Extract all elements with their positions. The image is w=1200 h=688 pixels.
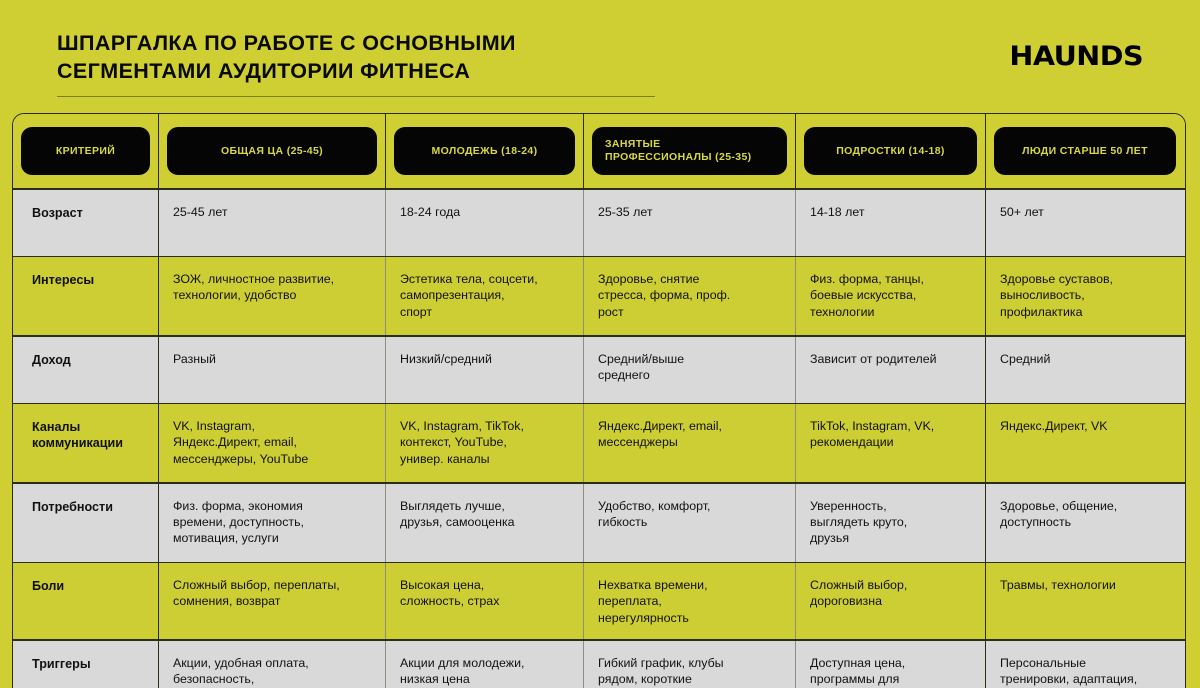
table-cell-r0-c2: 25-35 лет: [584, 190, 796, 256]
infographic-page: ШПАРГАЛКА ПО РАБОТЕ С ОСНОВНЫМИ СЕГМЕНТА…: [0, 0, 1200, 675]
table-cell-r4-c4: Здоровье, общение, доступность: [986, 484, 1184, 562]
table-cell-r1-c0: ЗОЖ, личностное развитие, технологии, уд…: [159, 257, 386, 335]
table-cell-r2-c1: Низкий/средний: [386, 337, 584, 403]
table-header-cell-1: ОБЩАЯ ЦА (25-45): [159, 114, 386, 188]
table-cell-r3-c1: VK, Instagram, TikTok, контекст, YouTube…: [386, 404, 584, 482]
table-cell-r0-c1: 18-24 года: [386, 190, 584, 256]
table-cell-r3-c2: Яндекс.Директ, email, мессенджеры: [584, 404, 796, 482]
table-cell-r1-c4: Здоровье суставов, выносливость, профила…: [986, 257, 1184, 335]
table-header-cell-5: ЛЮДИ СТАРШЕ 50 ЛЕТ: [986, 114, 1184, 188]
table-cell-r4-c0: Физ. форма, экономия времени, доступност…: [159, 484, 386, 562]
table-cell-r2-c4: Средний: [986, 337, 1184, 403]
row-label-0: Возраст: [13, 190, 159, 256]
table-cell-r1-c3: Физ. форма, танцы, боевые искусства, тех…: [796, 257, 986, 335]
table-cell-r2-c3: Зависит от родителей: [796, 337, 986, 403]
segments-table: КРИТЕРИЙОБЩАЯ ЦА (25-45)МОЛОДЕЖЬ (18-24)…: [12, 113, 1186, 688]
table-cell-r5-c4: Травмы, технологии: [986, 563, 1184, 639]
row-label-2: Доход: [13, 337, 159, 403]
row-label-6: Триггеры: [13, 641, 159, 688]
table-cell-r1-c1: Эстетика тела, соцсети, самопрезентация,…: [386, 257, 584, 335]
table-header-cell-0: КРИТЕРИЙ: [13, 114, 159, 188]
title-divider: [57, 96, 655, 97]
column-pill-1[interactable]: ОБЩАЯ ЦА (25-45): [167, 127, 377, 175]
table-cell-r4-c1: Выглядеть лучше, друзья, самооценка: [386, 484, 584, 562]
table-row: ДоходРазныйНизкий/среднийСредний/выше ср…: [13, 337, 1185, 403]
table-cell-r3-c4: Яндекс.Директ, VK: [986, 404, 1184, 482]
table-cell-r6-c0: Акции, удобная оплата, безопасность, про…: [159, 641, 386, 688]
column-pill-2[interactable]: МОЛОДЕЖЬ (18-24): [394, 127, 575, 175]
table-row: ТриггерыАкции, удобная оплата, безопасно…: [13, 641, 1185, 688]
row-label-3: Каналы коммуникации: [13, 404, 159, 482]
table-header-cell-3: ЗАНЯТЫЕ ПРОФЕССИОНАЛЫ (25-35): [584, 114, 796, 188]
table-cell-r5-c2: Нехватка времени, переплата, нерегулярно…: [584, 563, 796, 639]
table-header-cell-4: ПОДРОСТКИ (14-18): [796, 114, 986, 188]
column-pill-3[interactable]: ЗАНЯТЫЕ ПРОФЕССИОНАЛЫ (25-35): [592, 127, 787, 175]
table-cell-r6-c3: Доступная цена, программы для подростков…: [796, 641, 986, 688]
table-row: Возраст25-45 лет18-24 года25-35 лет14-18…: [13, 190, 1185, 256]
table-cell-r5-c0: Сложный выбор, переплаты, сомнения, возв…: [159, 563, 386, 639]
table-row: ПотребностиФиз. форма, экономия времени,…: [13, 484, 1185, 562]
table-cell-r0-c3: 14-18 лет: [796, 190, 986, 256]
brand-logo: HAUNDS: [1009, 41, 1143, 72]
row-label-4: Потребности: [13, 484, 159, 562]
table-cell-r6-c1: Акции для молодежи, низкая цена: [386, 641, 584, 688]
table-cell-r6-c4: Персональные тренировки, адаптация, конс…: [986, 641, 1184, 688]
table-cell-r2-c0: Разный: [159, 337, 386, 403]
table-cell-r6-c2: Гибкий график, клубы рядом, короткие зан…: [584, 641, 796, 688]
table-cell-r0-c0: 25-45 лет: [159, 190, 386, 256]
table-cell-r2-c2: Средний/выше среднего: [584, 337, 796, 403]
column-pill-0[interactable]: КРИТЕРИЙ: [21, 127, 150, 175]
row-label-1: Интересы: [13, 257, 159, 335]
table-cell-r4-c3: Уверенность, выглядеть круто, друзья: [796, 484, 986, 562]
page-title: ШПАРГАЛКА ПО РАБОТЕ С ОСНОВНЫМИ СЕГМЕНТА…: [57, 30, 737, 85]
page-header: ШПАРГАЛКА ПО РАБОТЕ С ОСНОВНЫМИ СЕГМЕНТА…: [0, 0, 1200, 112]
table-body: Возраст25-45 лет18-24 года25-35 лет14-18…: [13, 190, 1185, 688]
table-row: БолиСложный выбор, переплаты, сомнения, …: [13, 563, 1185, 639]
table-cell-r0-c4: 50+ лет: [986, 190, 1184, 256]
table-cell-r5-c3: Сложный выбор, дороговизна: [796, 563, 986, 639]
table-row: ИнтересыЗОЖ, личностное развитие, технол…: [13, 257, 1185, 335]
table-row: Каналы коммуникацииVK, Instagram, Яндекс…: [13, 404, 1185, 482]
table-header-cell-2: МОЛОДЕЖЬ (18-24): [386, 114, 584, 188]
table-header-row: КРИТЕРИЙОБЩАЯ ЦА (25-45)МОЛОДЕЖЬ (18-24)…: [13, 114, 1185, 188]
column-pill-5[interactable]: ЛЮДИ СТАРШЕ 50 ЛЕТ: [994, 127, 1176, 175]
column-pill-4[interactable]: ПОДРОСТКИ (14-18): [804, 127, 977, 175]
table-cell-r3-c3: TikTok, Instagram, VK, рекомендации: [796, 404, 986, 482]
table-cell-r1-c2: Здоровье, снятие стресса, форма, проф. р…: [584, 257, 796, 335]
row-label-5: Боли: [13, 563, 159, 639]
table-cell-r4-c2: Удобство, комфорт, гибкость: [584, 484, 796, 562]
table-cell-r3-c0: VK, Instagram, Яндекс.Директ, email, мес…: [159, 404, 386, 482]
table-cell-r5-c1: Высокая цена, сложность, страх: [386, 563, 584, 639]
